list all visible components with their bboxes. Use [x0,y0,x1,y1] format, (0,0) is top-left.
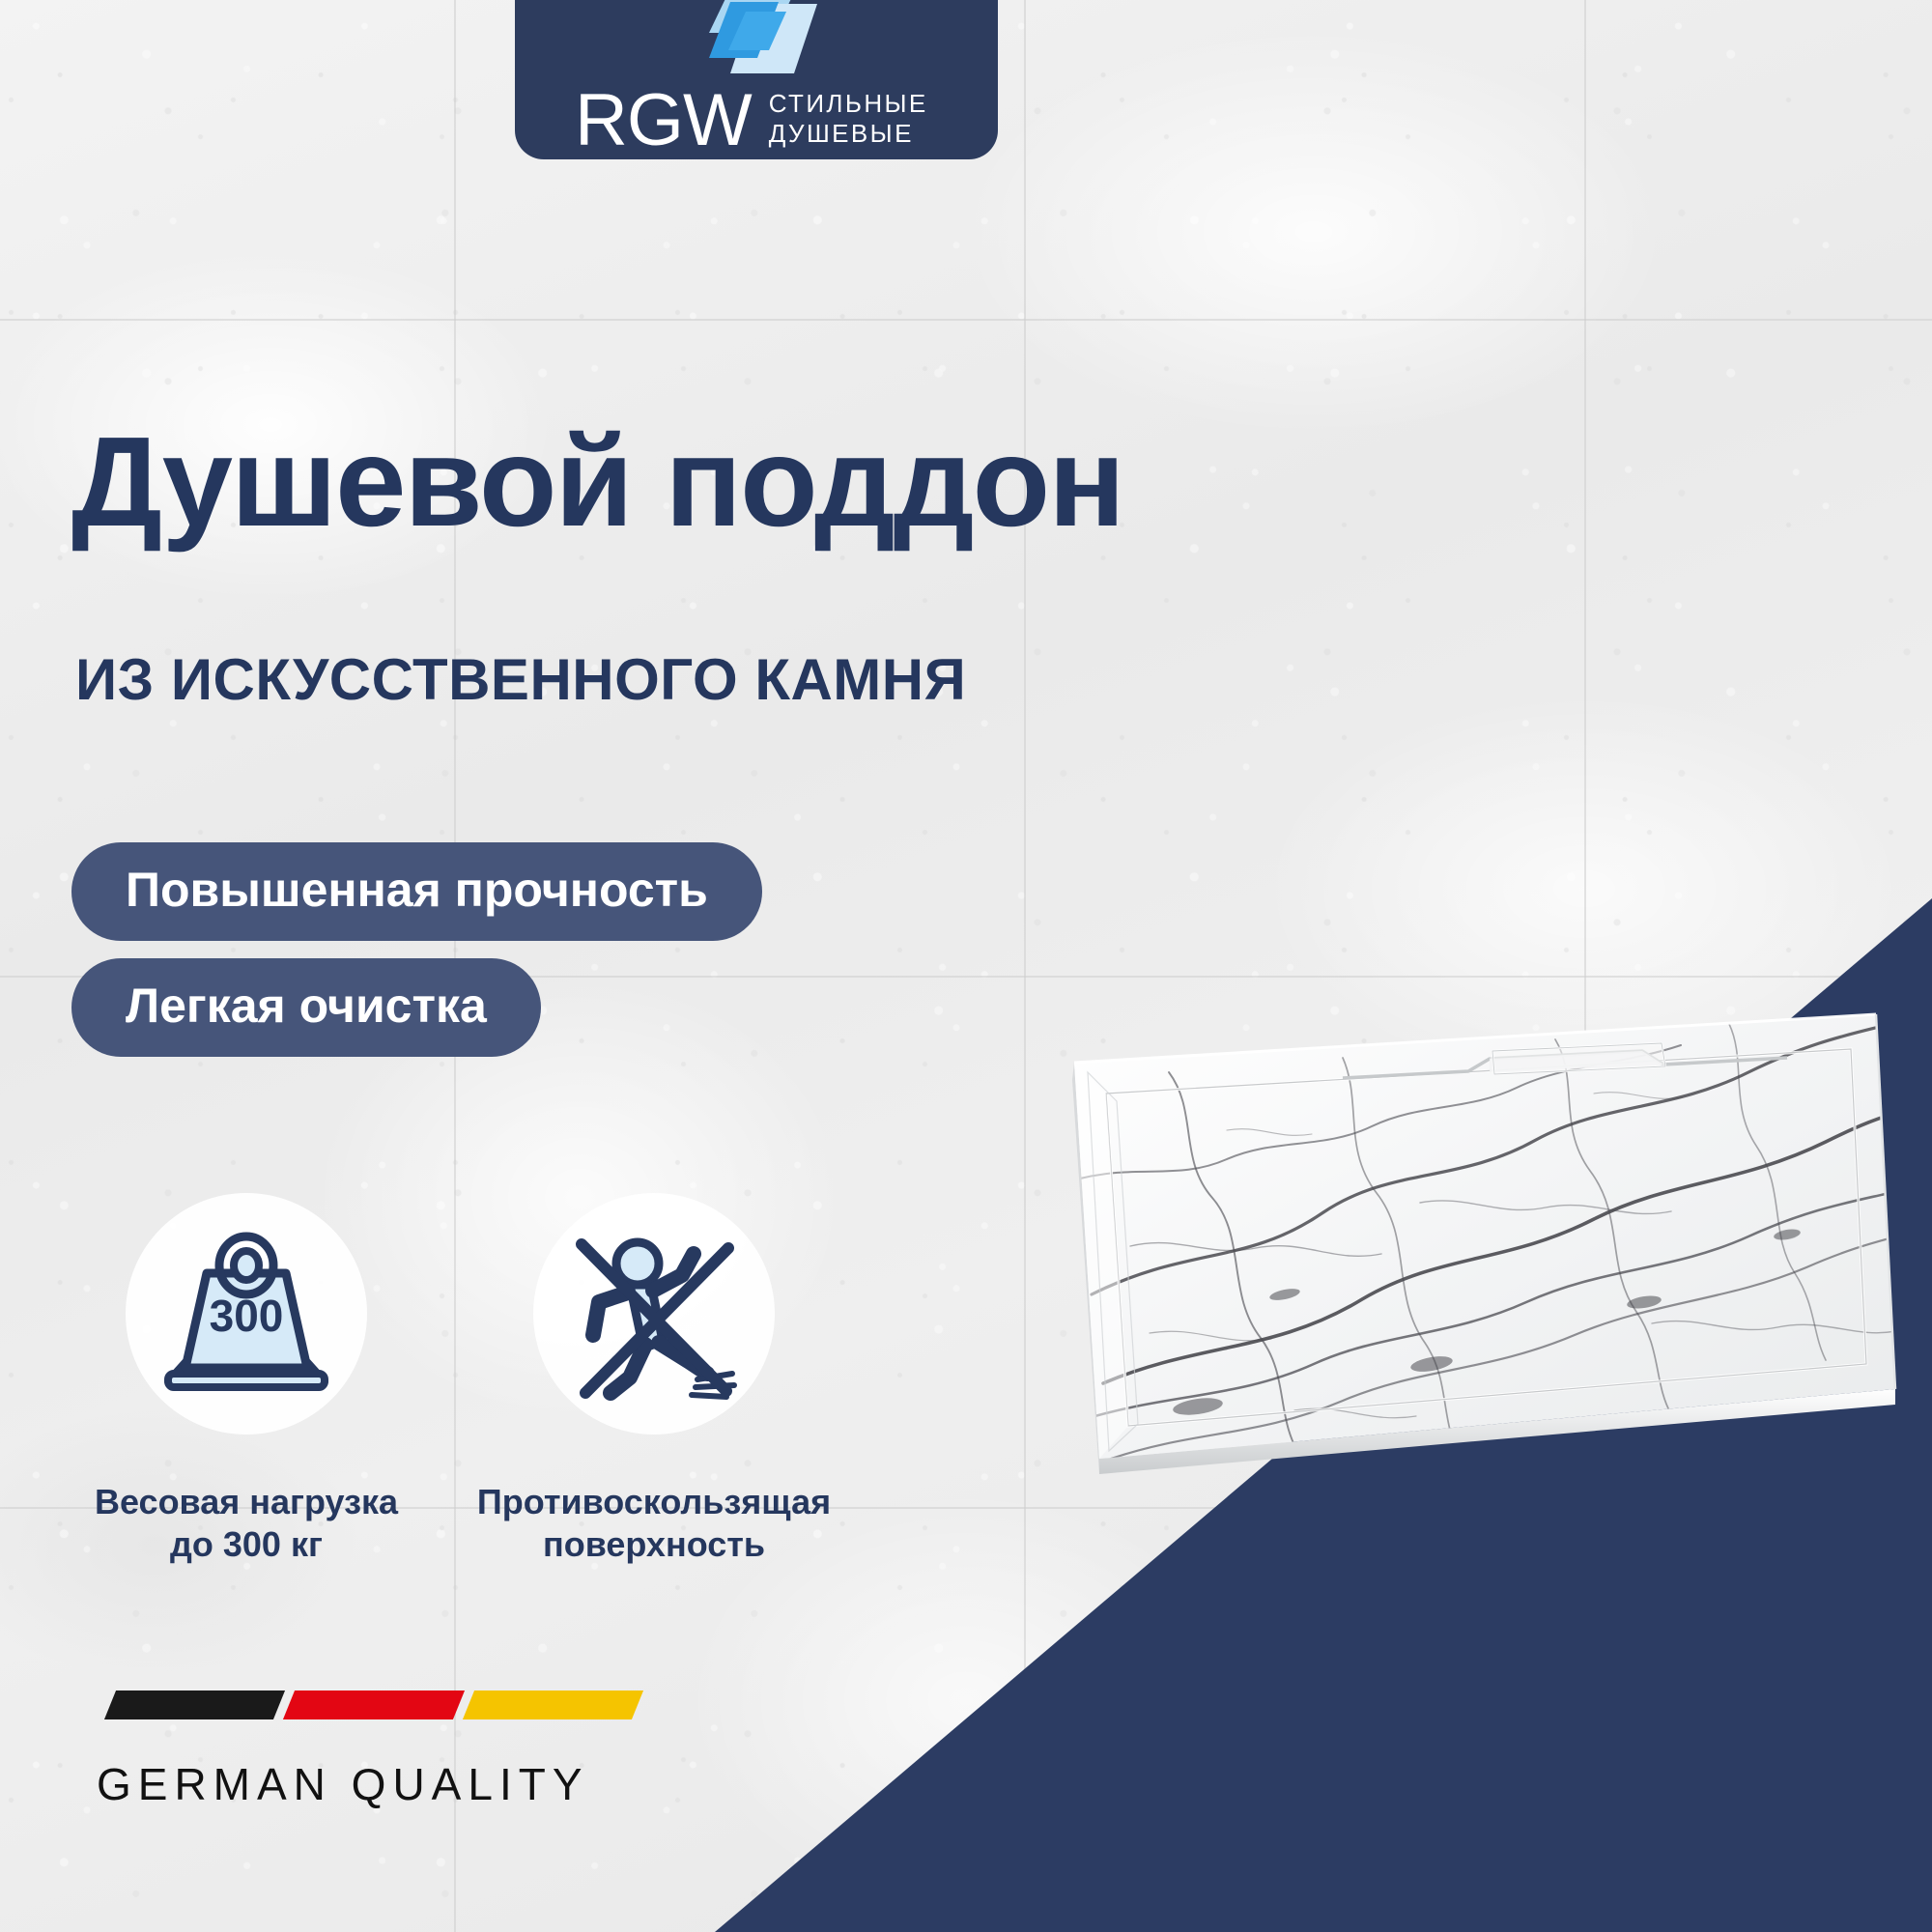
feature-weight-load: 300 Весовая нагрузка до 300 кг [87,1193,406,1566]
brand-wordmark: RGW [534,88,752,154]
feature-caption-weight: Весовая нагрузка до 300 кг [95,1481,398,1566]
feature-pill-strength: Повышенная прочность [71,842,762,941]
german-flag-stripes-icon [104,1690,643,1719]
german-quality-label: GERMAN QUALITY [97,1758,638,1810]
brand-tagline: СТИЛЬНЫЕ ДУШЕВЫЕ [769,89,928,152]
german-quality-badge: GERMAN QUALITY [97,1690,638,1810]
grout-line-horizontal [0,319,1932,321]
weight-300-icon: 300 [155,1227,338,1401]
feature-icon-circle: 300 [126,1193,367,1435]
rgw-logo-mark-icon [703,0,829,75]
promo-banner: RGW СТИЛЬНЫЕ ДУШЕВЫЕ Душевой поддон ИЗ И… [0,0,1932,1932]
feature-icon-circle [533,1193,775,1435]
feature-caption-anti-slip: Противоскользящая поверхность [477,1481,831,1566]
feature-pill-list: Повышенная прочность Легкая очистка [71,842,762,1057]
feature-icon-list: 300 Весовая нагрузка до 300 кг [87,1193,860,1566]
feature-anti-slip: Противоскользящая поверхность [495,1193,813,1566]
anti-slip-icon [562,1227,746,1401]
page-title: Душевой поддон [71,417,1366,548]
feature-pill-easy-clean: Легкая очистка [71,958,541,1057]
product-image [1053,1005,1903,1526]
flag-stripe-black [104,1690,285,1719]
brand-tagline-line2: ДУШЕВЫЕ [769,119,928,149]
brand-logo-plate: RGW СТИЛЬНЫЕ ДУШЕВЫЕ [515,0,998,159]
brand-tagline-line1: СТИЛЬНЫЕ [769,89,928,119]
page-subtitle: ИЗ ИСКУССТВЕННОГО КАМНЯ [75,649,1235,710]
marble-shower-tray-illustration [1053,1005,1903,1526]
weight-value-label: 300 [210,1291,284,1341]
flag-stripe-gold [463,1690,643,1719]
grout-line-vertical [1024,0,1026,1932]
flag-stripe-red [283,1690,464,1719]
